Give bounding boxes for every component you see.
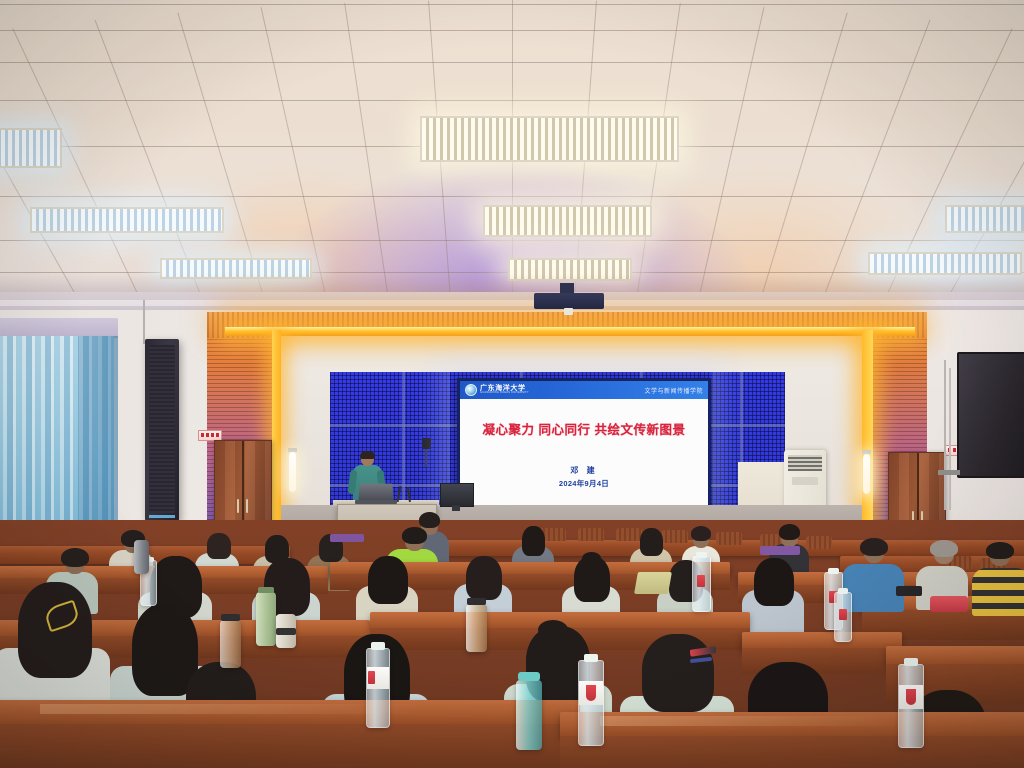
- bottle-cap: [584, 654, 598, 662]
- desk-front-row-front-right: [560, 736, 1024, 768]
- person-hair: [642, 634, 714, 712]
- slide-title: 凝心聚力 同心同行 共绘文传新图景: [460, 419, 708, 438]
- person-hair: [466, 556, 502, 600]
- bottle-lid: [518, 672, 540, 681]
- tumbler-lid: [221, 614, 240, 621]
- door-handle[interactable]: [246, 499, 248, 513]
- slide-date: 2024年9月4日: [460, 478, 708, 489]
- water-bottle[interactable]: [578, 660, 604, 746]
- bottle-label-accent: [839, 609, 847, 620]
- person-hair: [986, 542, 1014, 559]
- person-hair-bun: [582, 552, 601, 565]
- chair-back[interactable]: [616, 528, 642, 541]
- bottle-cap: [696, 552, 707, 558]
- person-hair: [754, 558, 794, 606]
- water-bottle[interactable]: [366, 648, 390, 728]
- front-monitor-stand: [452, 505, 460, 511]
- desk-front-row-front: [0, 724, 580, 768]
- purple-desk-item[interactable]: [760, 546, 800, 555]
- tumbler-lid: [467, 598, 486, 605]
- notebook-yellow[interactable]: [634, 572, 672, 594]
- person-hair: [61, 548, 89, 567]
- photo-canvas: 广东海洋大学 GUANGDONG OCEAN UNIVERSITY 文学与新闻传…: [0, 0, 1024, 768]
- purple-desk-item[interactable]: [330, 534, 364, 542]
- person-hair-grey: [930, 540, 958, 557]
- podium-laptop-base: [355, 500, 397, 504]
- door-handle[interactable]: [237, 499, 239, 513]
- thermos-cap: [258, 587, 274, 593]
- slide-header-bar: 广东海洋大学 GUANGDONG OCEAN UNIVERSITY 文学与新闻传…: [460, 381, 708, 399]
- chair-back[interactable]: [806, 536, 832, 549]
- ac-vent-icon: [788, 455, 822, 471]
- university-name-en: GUANGDONG OCEAN UNIVERSITY: [480, 392, 529, 394]
- phone-on-desk[interactable]: [896, 586, 922, 596]
- cup-band: [276, 628, 296, 635]
- bottle-label-accent: [906, 689, 916, 705]
- ceiling-light-center-mid: [483, 205, 652, 237]
- bottle-cap: [828, 568, 839, 574]
- ceiling-grid-line: [698, 7, 764, 300]
- person-hair-bun: [538, 620, 568, 640]
- ceiling-light-left-mid: [30, 207, 224, 233]
- water-bottle[interactable]: [692, 556, 711, 612]
- led-strip-right: [862, 330, 873, 552]
- slide-presenter-name: 邓 建: [460, 465, 708, 476]
- wall-speaker: [145, 339, 179, 521]
- cyan-sport-bottle[interactable]: [516, 680, 542, 750]
- person-torso: [972, 568, 1024, 616]
- bottle-cap: [371, 642, 385, 650]
- person-hair: [640, 528, 663, 556]
- chair-back[interactable]: [662, 530, 688, 543]
- person-hair: [402, 527, 427, 544]
- ceiling-grid-line: [261, 7, 327, 300]
- ceiling-grid-line: [177, 13, 265, 300]
- projection-screen[interactable]: 广东海洋大学 GUANGDONG OCEAN UNIVERSITY 文学与新闻传…: [457, 378, 711, 522]
- ceiling-grid-line: [760, 13, 848, 300]
- person-hair: [368, 556, 408, 604]
- thermos-bottle[interactable]: [256, 592, 276, 646]
- person-hair: [419, 512, 440, 528]
- thermos-bottle[interactable]: [134, 540, 149, 574]
- water-bottle[interactable]: [898, 664, 924, 748]
- bottle-label-accent: [586, 685, 596, 701]
- ceiling-grid-line: [344, 3, 389, 300]
- tv-cable: [944, 360, 946, 510]
- curtain-valance: [0, 318, 118, 338]
- front-monitor[interactable]: [440, 483, 474, 507]
- person-hair: [860, 538, 888, 556]
- tea-tumbler[interactable]: [466, 604, 487, 652]
- backdrop-mounted-camera: [422, 438, 431, 449]
- chair-back[interactable]: [716, 532, 742, 545]
- bottle-cap: [904, 658, 918, 666]
- wall-highlight: [0, 300, 1024, 306]
- speaker-grille: [149, 345, 175, 513]
- wall-sconce-left: [289, 452, 296, 492]
- presenter-hair: [360, 451, 375, 459]
- thermos-cup[interactable]: [276, 614, 296, 648]
- university-logo: 广东海洋大学 GUANGDONG OCEAN UNIVERSITY: [465, 384, 529, 396]
- person-hair: [522, 526, 545, 556]
- ceiling-projector: [534, 293, 604, 309]
- ceiling-light-center-top: [420, 116, 679, 162]
- backdrop-camera-pole: [425, 449, 427, 467]
- person-hair: [779, 524, 800, 540]
- ceiling-light-right-low: [868, 252, 1022, 275]
- projector-lens: [564, 308, 573, 315]
- college-name: 文学与新闻传播学院: [644, 386, 703, 395]
- person-hair: [207, 533, 231, 559]
- presentation-slide: 广东海洋大学 GUANGDONG OCEAN UNIVERSITY 文学与新闻传…: [460, 381, 708, 519]
- university-logo-text: 广东海洋大学 GUANGDONG OCEAN UNIVERSITY: [480, 385, 529, 395]
- wall-sconce-right: [863, 454, 870, 494]
- tv-wall-mount-arm: [938, 470, 960, 475]
- ac-control-panel: [792, 477, 818, 485]
- red-pouch[interactable]: [930, 596, 968, 612]
- desk-reflection: [40, 704, 420, 714]
- ceiling-grid-line: [0, 38, 79, 300]
- bottle-label-accent: [697, 575, 705, 587]
- ceiling-light-left-upper: [0, 128, 62, 168]
- led-strip-left: [272, 330, 281, 552]
- person-hair: [691, 526, 711, 541]
- water-bottle[interactable]: [834, 592, 852, 642]
- bottle-label-accent: [368, 671, 375, 684]
- bottle-cap: [838, 588, 848, 594]
- ceiling: [0, 0, 1024, 300]
- tv-cable: [949, 368, 951, 510]
- desk-reflection: [600, 716, 900, 726]
- speaker-cable: [143, 300, 145, 344]
- led-strip-top: [225, 327, 915, 336]
- chair-back[interactable]: [578, 528, 604, 541]
- speaker-led-indicator: [149, 515, 175, 518]
- university-seal-icon: [465, 384, 477, 396]
- tea-tumbler[interactable]: [220, 620, 241, 668]
- wall-television[interactable]: [957, 352, 1024, 478]
- ceiling-light-right-mid: [945, 205, 1024, 233]
